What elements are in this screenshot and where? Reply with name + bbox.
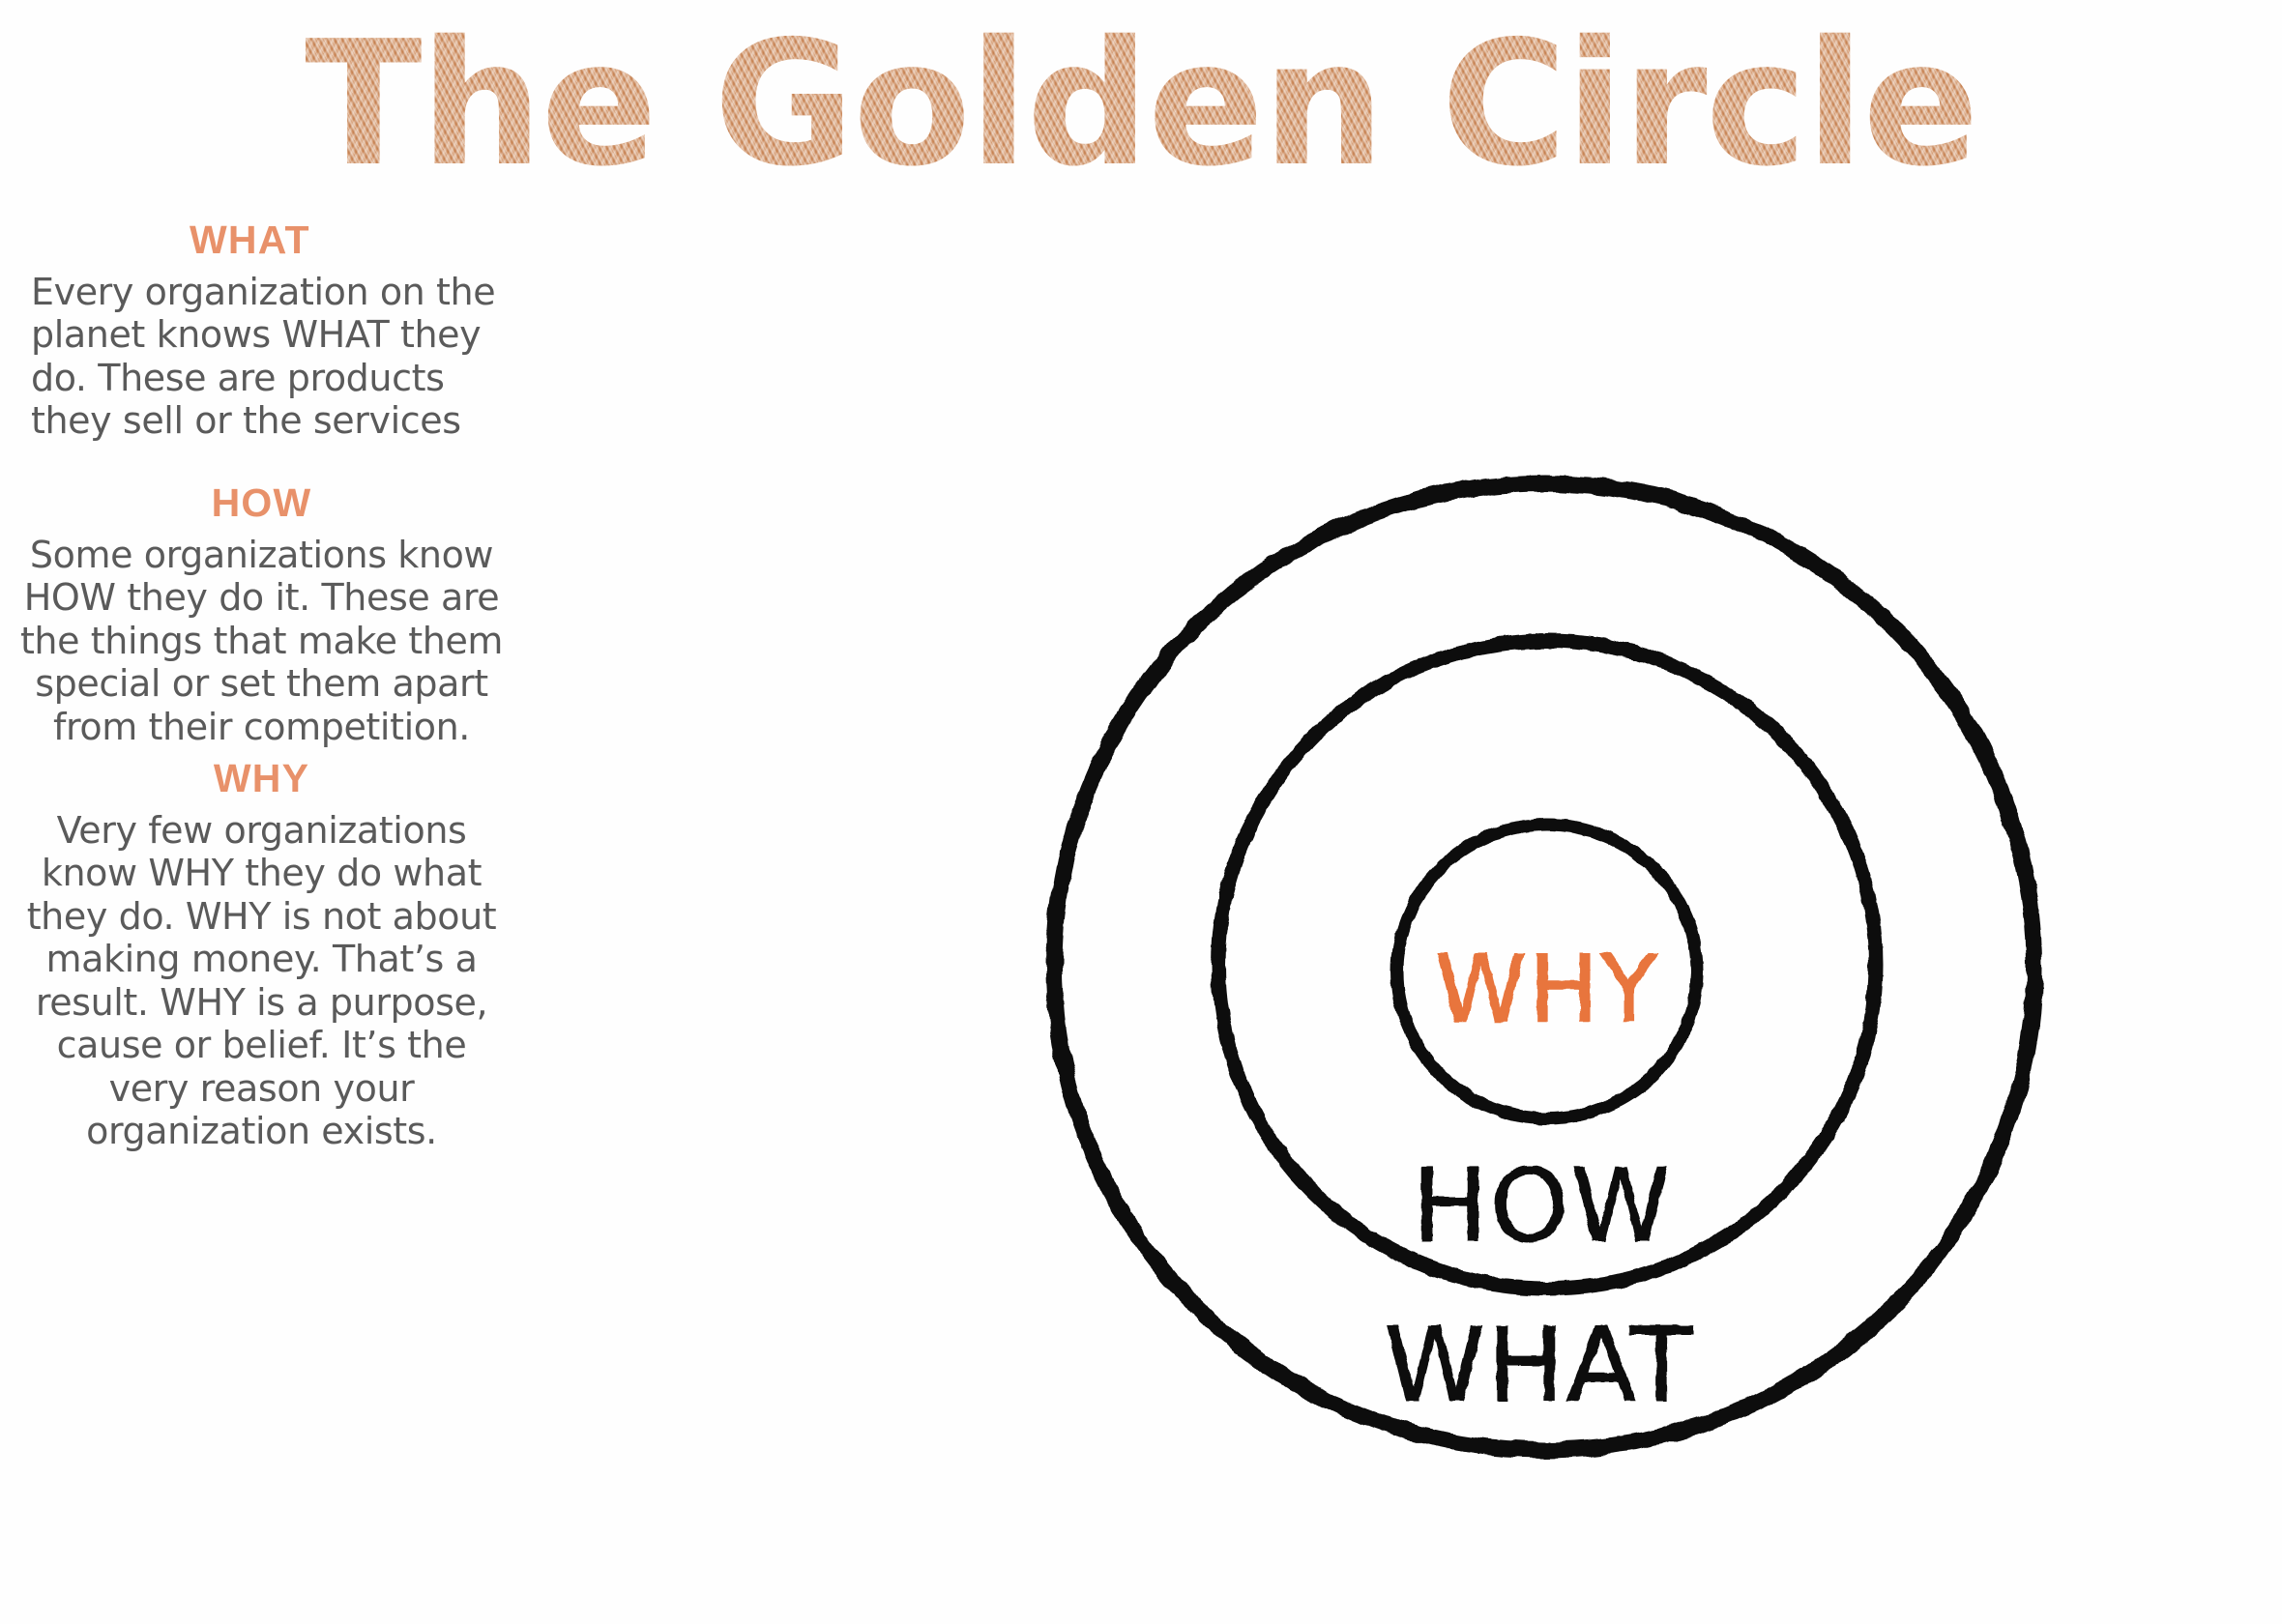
section-what: WHAT Every organization on the planet kn… <box>17 217 501 443</box>
section-why-heading: WHY <box>17 756 506 801</box>
diagram-label-why: WHY <box>1435 935 1659 1043</box>
page-title: The Golden Circle <box>305 18 1977 190</box>
section-how-body: Some organizations know HOW they do it. … <box>17 534 506 748</box>
diagram-label-what: WHAT <box>1384 1306 1695 1425</box>
section-what-heading: WHAT <box>190 217 501 263</box>
title-bar: The Golden Circle <box>0 0 2282 208</box>
section-why-body: Very few organizations know WHY they do … <box>17 809 506 1153</box>
section-how: HOW Some organizations know HOW they do … <box>17 480 506 748</box>
section-why: WHY Very few organizations know WHY they… <box>17 756 506 1153</box>
diagram-label-how: HOW <box>1413 1146 1673 1264</box>
section-how-heading: HOW <box>17 480 506 526</box>
section-what-body: Every organization on the planet knows W… <box>31 271 501 443</box>
golden-circle-diagram: WHY HOW WHAT <box>1010 309 2093 1624</box>
